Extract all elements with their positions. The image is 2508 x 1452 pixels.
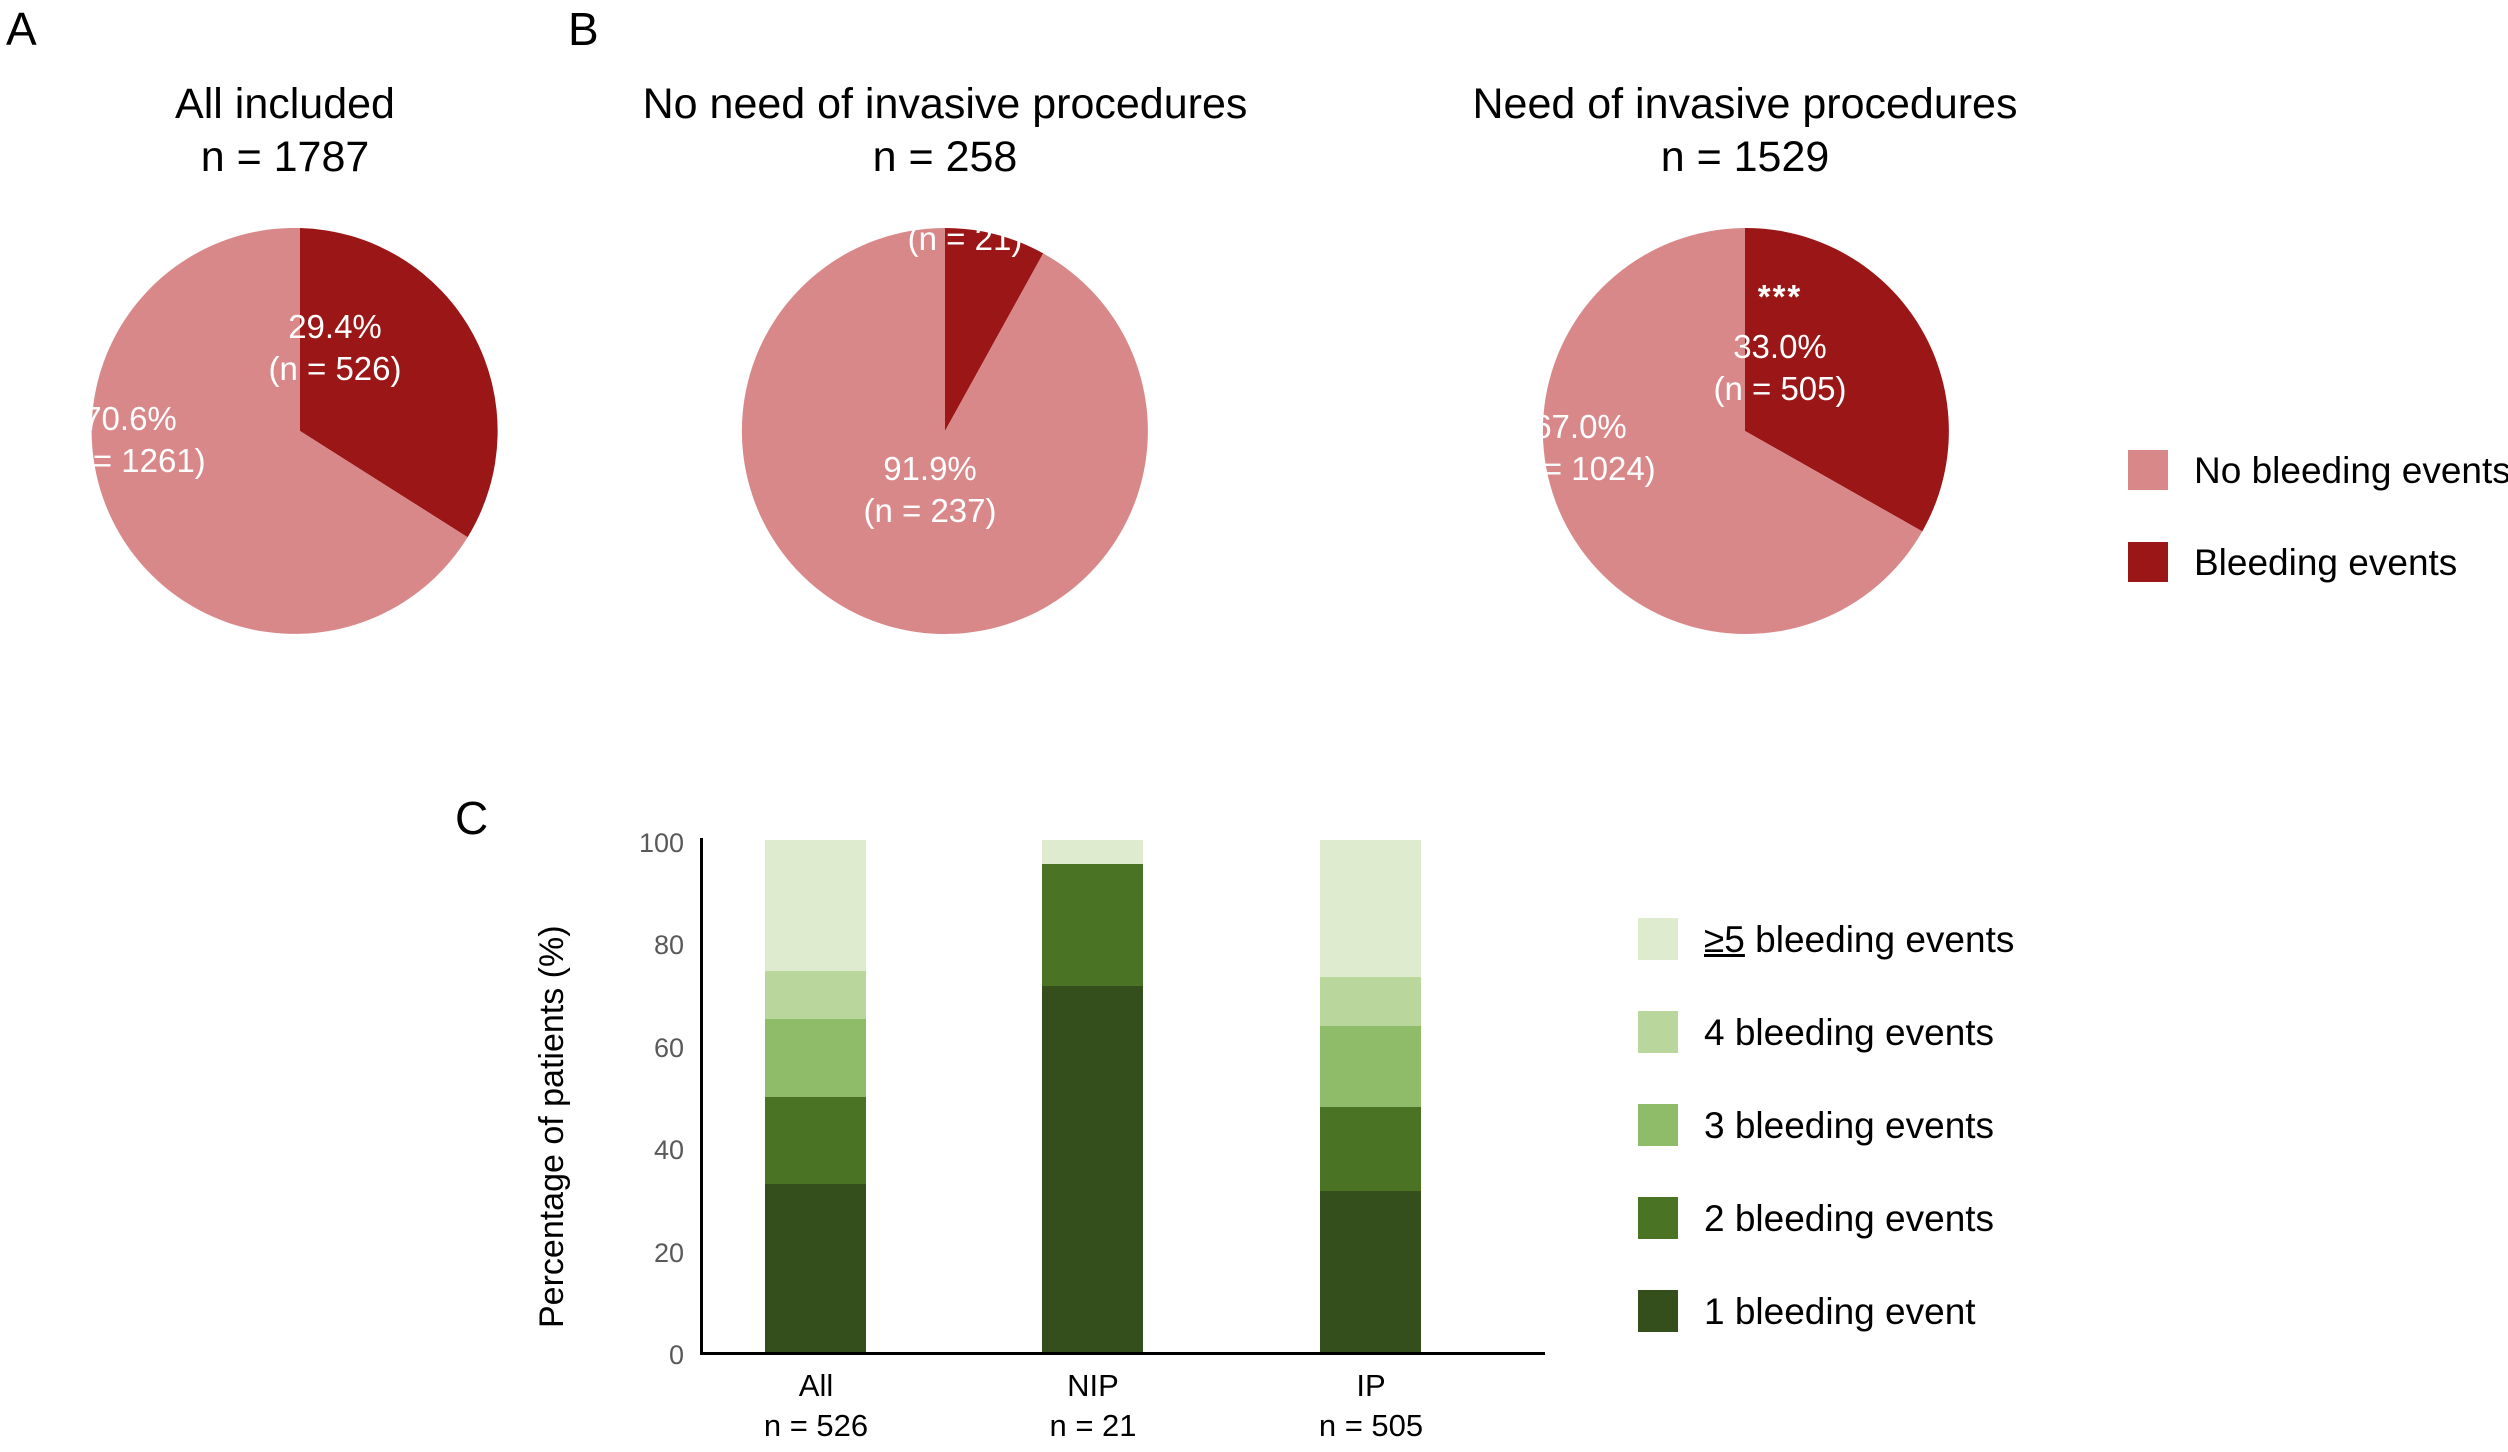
pie-b1-label-bleeding: 8.1% (n = 21) xyxy=(870,176,1060,260)
y-tick-40: 40 xyxy=(596,1135,684,1166)
bar-all-seg-4[interactable] xyxy=(765,971,866,1019)
x-label-all: All n = 526 xyxy=(716,1366,916,1447)
bar-legend-label-2: 2 bleeding events xyxy=(1704,1200,1994,1237)
pie-b1-svg xyxy=(675,228,1215,634)
pie-b2-nobleeding-pct: 67.0% xyxy=(1470,406,1690,448)
pie-b2-subtitle-text: n = 1529 xyxy=(1400,131,2090,184)
pie-b2-label-bleeding: 33.0% (n = 505) xyxy=(1680,326,1880,410)
bar-legend-label-1: 1 bleeding event xyxy=(1704,1293,1976,1330)
pie-a-nobleeding-pct: 70.6% xyxy=(20,398,240,440)
swatch-no-bleeding-icon xyxy=(2128,450,2168,490)
pie-legend-label-bleeding: Bleeding events xyxy=(2194,544,2457,581)
pie-b1-slice-no-bleeding xyxy=(742,228,1148,634)
bar-nip-seg-1[interactable] xyxy=(1042,986,1143,1352)
swatch-1-event-icon xyxy=(1638,1290,1678,1332)
pie-b1-bleeding-pct: 8.1% xyxy=(870,176,1060,218)
x-axis-line xyxy=(700,1352,1545,1355)
bar-legend-label-4: 4 bleeding events xyxy=(1704,1014,1994,1051)
bar-nip-seg-5[interactable] xyxy=(1042,840,1143,864)
pie-b2-bleeding-n: (n = 505) xyxy=(1680,368,1880,410)
pie-chart-b1: No need of invasive procedures n = 258 xyxy=(595,78,1295,185)
pie-b1-nobleeding-pct: 91.9% xyxy=(830,448,1030,490)
bar-nip-seg-2[interactable] xyxy=(1042,864,1143,986)
pie-b1-bleeding-n: (n = 21) xyxy=(870,218,1060,260)
bar-legend-label-3: 3 bleeding events xyxy=(1704,1107,1994,1144)
bar-chart-panel-c: Percentage of patients (%) 100 80 60 40 … xyxy=(0,0,2508,1452)
y-tick-80: 80 xyxy=(596,930,684,961)
pie-a-subtitle-text: n = 1787 xyxy=(20,131,550,184)
pie-b1-nobleeding-n: (n = 237) xyxy=(830,490,1030,532)
bar-legend-item-5plus[interactable]: ≥5 bleeding events xyxy=(1638,918,2014,960)
pie-b2-title-text: Need of invasive procedures xyxy=(1400,78,2090,131)
pie-a-graphic: 29.4% (n = 526) 70.6% (n = 1261) xyxy=(30,228,570,634)
y-axis-title: Percentage of patients (%) xyxy=(533,925,572,1328)
bar-all-seg-2[interactable] xyxy=(765,1097,866,1184)
pie-b2-label-no-bleeding: 67.0% (n = 1024) xyxy=(1470,406,1690,490)
y-tick-100: 100 xyxy=(596,828,684,859)
pie-b2-bleeding-pct: 33.0% xyxy=(1680,326,1880,368)
y-tick-20: 20 xyxy=(596,1238,684,1269)
bar-legend-item-3[interactable]: 3 bleeding events xyxy=(1638,1104,2014,1146)
bar-legend-label-5plus: ≥5 bleeding events xyxy=(1704,921,2014,958)
pie-b2-graphic: *** 33.0% (n = 505) 67.0% (n = 1024) xyxy=(1475,228,2015,634)
bar-legend-item-2[interactable]: 2 bleeding events xyxy=(1638,1197,2014,1239)
pie-b2-significance: *** xyxy=(1680,278,1880,316)
pie-legend-item-no-bleeding[interactable]: No bleeding events xyxy=(2128,450,2508,490)
pie-legend-label-no-bleeding: No bleeding events xyxy=(2194,452,2508,489)
bar-ip-seg-1[interactable] xyxy=(1320,1191,1421,1352)
bar-legend: ≥5 bleeding events 4 bleeding events 3 b… xyxy=(1638,918,2014,1332)
x-label-ip-n: n = 505 xyxy=(1271,1406,1471,1446)
swatch-3-events-icon xyxy=(1638,1104,1678,1146)
pie-a-label-bleeding: 29.4% (n = 526) xyxy=(235,306,435,390)
x-label-nip-n: n = 21 xyxy=(993,1406,1193,1446)
pie-a-title: All included n = 1787 xyxy=(20,78,550,185)
panel-letter-a: A xyxy=(6,6,37,52)
bar-all-seg-5[interactable] xyxy=(765,840,866,971)
pie-a-bleeding-pct: 29.4% xyxy=(235,306,435,348)
x-label-nip: NIP n = 21 xyxy=(993,1366,1193,1447)
pie-a-title-text: All included xyxy=(20,78,550,131)
swatch-bleeding-icon xyxy=(2128,542,2168,582)
y-tick-60: 60 xyxy=(596,1033,684,1064)
pie-a-bleeding-n: (n = 526) xyxy=(235,348,435,390)
swatch-2-events-icon xyxy=(1638,1197,1678,1239)
x-label-nip-name: NIP xyxy=(993,1366,1193,1406)
x-label-ip: IP n = 505 xyxy=(1271,1366,1471,1447)
swatch-5-plus-events-icon xyxy=(1638,918,1678,960)
pie-chart-b2: Need of invasive procedures n = 1529 xyxy=(1400,78,2090,185)
pie-b2-nobleeding-n: (n = 1024) xyxy=(1470,448,1690,490)
y-tick-0: 0 xyxy=(596,1340,684,1371)
pie-legend: No bleeding events Bleeding events xyxy=(2128,450,2508,582)
pie-b1-graphic: 8.1% (n = 21) 91.9% (n = 237) xyxy=(675,228,1215,634)
bar-legend-item-4[interactable]: 4 bleeding events xyxy=(1638,1011,2014,1053)
bar-all-seg-1[interactable] xyxy=(765,1184,866,1352)
pie-b1-title: No need of invasive procedures n = 258 xyxy=(595,78,1295,185)
pie-b2-title: Need of invasive procedures n = 1529 xyxy=(1400,78,2090,185)
pie-legend-item-bleeding[interactable]: Bleeding events xyxy=(2128,542,2508,582)
pie-a-label-no-bleeding: 70.6% (n = 1261) xyxy=(20,398,240,482)
pie-a-nobleeding-n: (n = 1261) xyxy=(20,440,240,482)
pie-b1-title-text: No need of invasive procedures xyxy=(595,78,1295,131)
x-label-all-n: n = 526 xyxy=(716,1406,916,1446)
bar-ip-seg-4[interactable] xyxy=(1320,977,1421,1026)
bar-all-seg-3[interactable] xyxy=(765,1019,866,1097)
bar-ip-seg-5[interactable] xyxy=(1320,840,1421,977)
swatch-4-events-icon xyxy=(1638,1011,1678,1053)
pie-chart-a: All included n = 1787 xyxy=(20,78,550,185)
panel-letter-c: C xyxy=(455,795,488,841)
pie-b1-label-no-bleeding: 91.9% (n = 237) xyxy=(830,448,1030,532)
y-axis-line xyxy=(700,838,703,1354)
x-label-ip-name: IP xyxy=(1271,1366,1471,1406)
panel-letter-b: B xyxy=(568,6,599,52)
x-label-all-name: All xyxy=(716,1366,916,1406)
bar-ip-seg-3[interactable] xyxy=(1320,1026,1421,1107)
bar-legend-item-1[interactable]: 1 bleeding event xyxy=(1638,1290,2014,1332)
bar-ip-seg-2[interactable] xyxy=(1320,1107,1421,1191)
